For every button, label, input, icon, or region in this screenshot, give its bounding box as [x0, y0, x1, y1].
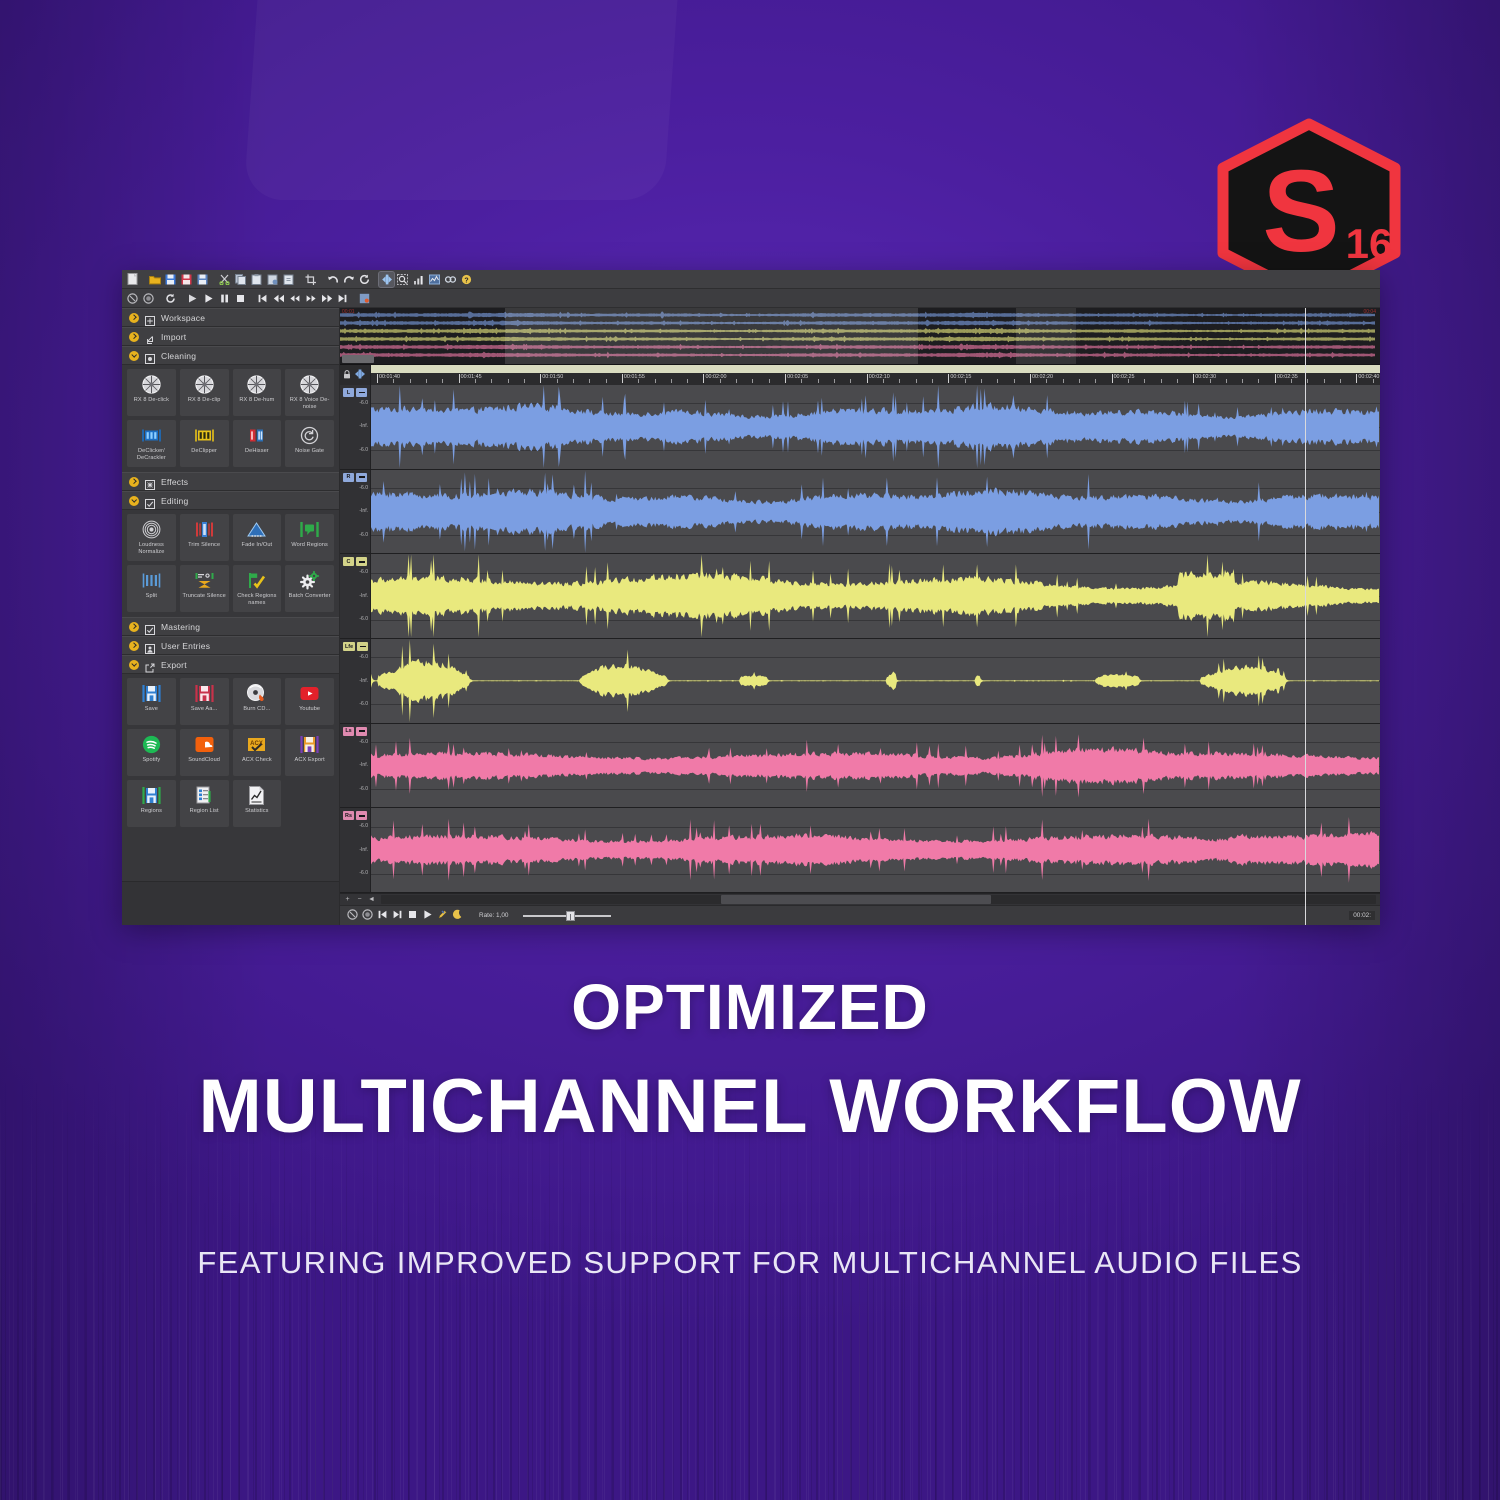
sidebar-section-label: Editing [161, 496, 188, 506]
channel-c[interactable]: C-6.0-Inf.-6.0 [340, 554, 1380, 639]
multichannel-link-icon[interactable] [354, 366, 366, 384]
statistics-doc-icon [246, 785, 267, 806]
ruler-tick-minor [687, 379, 688, 383]
status-time: 00:02: [1349, 911, 1375, 920]
tool-tile-label: Spotify [140, 757, 162, 764]
tool-tile-label: Save Aa... [189, 706, 220, 713]
channel-scale-label: -Inf. [359, 593, 368, 599]
channel-badge[interactable]: R [343, 473, 354, 482]
channel-mute-button[interactable] [356, 727, 367, 736]
rate-label: Rate: 1,00 [479, 912, 509, 919]
sidebar-grid-editing: Loudness NormalizeTrim SilenceFade In/Ou… [122, 510, 339, 617]
tool-tile[interactable]: RX 8 Voice De-noise [285, 369, 334, 416]
tool-tile-label: Youtube [297, 706, 322, 713]
play-all-icon[interactable] [185, 291, 200, 306]
ruler-tick-minor [1291, 379, 1292, 383]
effects-icon [145, 477, 155, 487]
tool-tile-label: DeClicker/ DeCrackler [127, 448, 176, 461]
ruler-tick-minor [916, 379, 917, 383]
zoom-in-icon[interactable]: + [343, 895, 352, 904]
record-icon[interactable] [360, 907, 375, 922]
chevron-right-icon[interactable] [129, 313, 139, 323]
status-bar[interactable]: Rate: 1,00 00:02: [340, 905, 1380, 925]
ruler-tick-minor [801, 379, 802, 383]
ruler-selection-bar[interactable] [371, 365, 1380, 373]
stop-icon[interactable] [405, 907, 420, 922]
overview-minimap[interactable]: 00:01 00:04 [340, 308, 1380, 365]
channel-tag: Lfe [343, 642, 368, 651]
go-to-start-icon[interactable] [255, 291, 270, 306]
save-as-disk-icon [194, 683, 215, 704]
tool-tile[interactable]: RX 8 De-click [127, 369, 176, 416]
tool-tile[interactable]: Save Aa... [180, 678, 229, 725]
ruler-tick-minor [932, 379, 933, 383]
ruler-time-label: 00:01:55 [622, 374, 645, 380]
sidebar-grid-export: SaveSave Aa...Burn CD...YoutubeSpotifySo… [122, 674, 339, 832]
ruler-tick-minor [393, 379, 394, 383]
sidebar-section-label: Workspace [161, 313, 205, 323]
channel-l[interactable]: L-6.0-Inf.-6.0 [340, 385, 1380, 470]
dehisser-icon [246, 425, 267, 446]
ruler-tick-minor [1226, 379, 1227, 383]
channel-gutter: Ls-6.0-Inf.-6.0 [340, 724, 371, 808]
ruler-tick-minor [965, 379, 966, 383]
tool-tile[interactable]: Trim Silence [180, 514, 229, 561]
tool-tile[interactable]: Truncate Silence [180, 565, 229, 612]
toolbar-separator [373, 272, 378, 287]
tool-tile-label: Word Regions [289, 542, 330, 549]
undo-icon[interactable] [325, 272, 340, 287]
main-toolbar[interactable]: ? [122, 270, 1380, 289]
tool-tile[interactable]: Regions [127, 780, 176, 827]
background-shape [243, 0, 686, 200]
tool-tile[interactable]: Noise Gate [285, 420, 334, 467]
tool-tile-label: SoundCloud [186, 757, 222, 764]
tool-tile-label: Fade In/Out [240, 542, 275, 549]
play-icon[interactable] [201, 291, 216, 306]
tool-tile-label: Batch Converter [287, 593, 333, 600]
tool-tile-label: Trim Silence [186, 542, 222, 549]
tool-sidebar[interactable]: WorkspaceImportCleaningRX 8 De-clickRX 8… [122, 308, 340, 925]
sidebar-section-label: Cleaning [161, 351, 196, 361]
moon-icon[interactable] [450, 907, 465, 922]
tool-tile-label: ACX Export [293, 757, 327, 764]
ruler-tick-minor [1063, 379, 1064, 383]
ruler-time-label: 00:01:50 [540, 374, 563, 380]
svg-text:?: ? [464, 277, 468, 284]
tool-tile[interactable]: DeHisser [233, 420, 282, 467]
ruler-tick-minor [1324, 379, 1325, 383]
sidebar-grid-cleaning: RX 8 De-clickRX 8 De-clipRX 8 De-humRX 8… [122, 365, 339, 472]
ruler-tick-minor [655, 379, 656, 383]
ruler-time-label: 00:01:45 [459, 374, 482, 380]
declipper-icon [194, 425, 215, 446]
tool-tile-label: DeClipper [189, 448, 219, 455]
tool-tile[interactable]: Region List [180, 780, 229, 827]
status-transport-buttons[interactable] [345, 907, 465, 925]
channel-ls[interactable]: Ls-6.0-Inf.-6.0 [340, 724, 1380, 809]
channel-tag: R [343, 473, 367, 482]
rewind-icon[interactable] [287, 291, 302, 306]
multichannel-icon[interactable] [379, 272, 394, 287]
ruler-tick-minor [1340, 379, 1341, 383]
trim-silence-icon [194, 519, 215, 540]
channel-scale-label: -6.0 [359, 400, 368, 406]
loop-icon[interactable] [163, 291, 178, 306]
refresh-icon[interactable] [357, 272, 372, 287]
sidebar-section-label: Mastering [161, 622, 200, 632]
tool-tile[interactable]: ACX Export [285, 729, 334, 776]
ruler-time-label: 00:02:00 [703, 374, 726, 380]
channel-scale-label: -6.0 [359, 870, 368, 876]
fade-in-out-icon [246, 519, 267, 540]
sidebar-section-mastering[interactable]: Mastering [122, 617, 339, 636]
waveform-path [371, 470, 1380, 554]
tool-tile[interactable]: Check Regions names [233, 565, 282, 612]
channel-gutter: C-6.0-Inf.-6.0 [340, 554, 371, 638]
sidebar-section-workspace[interactable]: Workspace [122, 308, 339, 327]
ruler-tick-minor [1046, 379, 1047, 383]
ruler-tick-minor [899, 379, 900, 383]
channel-rs[interactable]: Rs-6.0-Inf.-6.0 [340, 808, 1380, 893]
playhead-cursor[interactable] [1305, 308, 1306, 925]
ruler-tick-minor [475, 379, 476, 383]
ruler-tick-minor [426, 379, 427, 383]
ruler-tick-minor [589, 379, 590, 383]
toolbar-separator [319, 272, 324, 287]
pause-icon[interactable] [217, 291, 232, 306]
horizontal-scrollbar[interactable]: + − ◄ [340, 893, 1380, 905]
rx-dial-icon [299, 374, 320, 395]
tool-tile[interactable]: Split [127, 565, 176, 612]
channel-mute-button[interactable] [356, 557, 367, 566]
record-icon[interactable] [141, 291, 156, 306]
sidebar-section-import[interactable]: Import [122, 327, 339, 346]
ruler-time-label: 00:02:40 [1356, 374, 1379, 380]
channel-waveform[interactable] [371, 724, 1380, 808]
import-icon [145, 332, 155, 342]
lock-icon[interactable] [343, 366, 351, 384]
tool-tile-label: Split [144, 593, 159, 600]
headline-line-1: OPTIMIZED [0, 975, 1500, 1039]
ruler-tick-minor [491, 379, 492, 383]
channel-scale-label: -6.0 [359, 823, 368, 829]
minimap-selection-secondary[interactable] [1016, 308, 1076, 364]
ruler-tick-minor [442, 379, 443, 383]
time-ruler[interactable]: 00:01:4000:01:4500:01:5000:01:5500:02:00… [340, 365, 1380, 385]
waveform-path [371, 554, 1380, 638]
tool-tile-label: Regions [139, 808, 164, 815]
channel-gutter: Rs-6.0-Inf.-6.0 [340, 808, 371, 892]
sidebar-sections[interactable]: WorkspaceImportCleaningRX 8 De-clickRX 8… [122, 308, 339, 881]
zoom-selection-icon[interactable] [395, 272, 410, 287]
tool-tile[interactable]: SoundCloud [180, 729, 229, 776]
paste-special-icon[interactable] [265, 272, 280, 287]
channel-tag: Ls [343, 727, 367, 736]
noise-gate-icon [299, 425, 320, 446]
tool-tile[interactable]: ACXACX Check [233, 729, 282, 776]
channel-scale-label: -6.0 [359, 616, 368, 622]
channel-mute-button[interactable] [356, 388, 367, 397]
waveform-path [371, 724, 1380, 808]
zoom-out-icon[interactable]: − [355, 895, 364, 904]
ruler-time-label: 00:02:05 [785, 374, 808, 380]
tool-tile-label: ACX Check [240, 757, 274, 764]
scroll-left-icon[interactable]: ◄ [367, 895, 376, 904]
ruler-tick-minor [638, 379, 639, 383]
go-to-end-icon[interactable] [335, 291, 350, 306]
ruler-tick-minor [1128, 379, 1129, 383]
toolbar-separator [297, 272, 302, 287]
ruler-time-label: 00:02:15 [948, 374, 971, 380]
transport-toolbar[interactable] [122, 289, 1380, 308]
tool-tile-label: Noise Gate [293, 448, 326, 455]
chevron-right-icon[interactable] [129, 477, 139, 487]
chevron-down-icon[interactable] [129, 496, 139, 506]
ruler-tick-minor [1161, 379, 1162, 383]
rx-dial-icon [194, 374, 215, 395]
ruler-tick-minor [1014, 379, 1015, 383]
channel-badge[interactable]: Rs [343, 811, 354, 820]
soundcloud-icon [194, 734, 215, 755]
pencil-edit-icon[interactable] [435, 907, 450, 922]
channel-r[interactable]: R-6.0-Inf.-6.0 [340, 470, 1380, 555]
channel-mute-button[interactable] [357, 642, 368, 651]
channel-scale-label: -6.0 [359, 532, 368, 538]
redo-icon[interactable] [341, 272, 356, 287]
channel-badge[interactable]: L [343, 388, 354, 397]
channel-scale-label: -Inf. [359, 508, 368, 514]
channel-waveform[interactable] [371, 808, 1380, 892]
tool-tile-label: Loudness Normalize [127, 542, 176, 555]
tool-tile-label: Check Regions names [233, 593, 282, 606]
tool-tile-label: Statistics [243, 808, 270, 815]
ruler-tick-minor [1210, 379, 1211, 383]
sidebar-section-label: User Entries [161, 641, 210, 651]
cut-icon[interactable] [217, 272, 232, 287]
tool-tile-label: Save [143, 706, 160, 713]
tool-tile[interactable]: Youtube [285, 678, 334, 725]
ruler-time-label: 00:01:40 [377, 374, 400, 380]
ruler-tick-minor [410, 379, 411, 383]
word-regions-icon [299, 519, 320, 540]
sound-forge-window[interactable]: ? WorkspaceImportCleaningRX 8 De-clickRX… [122, 270, 1380, 925]
minimap-scroll-handle[interactable] [342, 355, 374, 363]
channel-badge[interactable]: Lfe [343, 642, 355, 651]
tool-tile[interactable]: RX 8 De-hum [233, 369, 282, 416]
record-arm-icon[interactable] [125, 291, 140, 306]
copy-icon[interactable] [233, 272, 248, 287]
tool-tile-label: Burn CD... [241, 706, 272, 713]
channel-waveform[interactable] [371, 639, 1380, 723]
export-icon [145, 660, 155, 670]
tool-tile-label: RX 8 Voice De-noise [285, 397, 334, 410]
declicker-icon [141, 425, 162, 446]
tool-tile[interactable]: Save [127, 678, 176, 725]
minimap-selection[interactable] [505, 308, 918, 364]
chevron-down-icon[interactable] [129, 660, 139, 670]
acx-export-icon [299, 734, 320, 755]
ruler-tick-minor [1258, 379, 1259, 383]
play-icon[interactable] [420, 907, 435, 922]
duplicate-icon[interactable] [281, 272, 296, 287]
toolbar-separator [141, 272, 146, 287]
headline-line-2: MULTICHANNEL WORKFLOW [0, 1069, 1500, 1145]
sidebar-section-export[interactable]: Export [122, 655, 339, 674]
spotify-icon [141, 734, 162, 755]
tool-tile[interactable]: DeClipper [180, 420, 229, 467]
channel-tag: C [343, 557, 367, 566]
sidebar-section-label: Effects [161, 477, 188, 487]
channel-scale-label: -Inf. [359, 762, 368, 768]
ruler-tick-minor [1373, 379, 1374, 383]
tool-tile[interactable]: Batch Converter [285, 565, 334, 612]
sidebar-section-effects[interactable]: Effects [122, 472, 339, 491]
record-arm-icon[interactable] [345, 907, 360, 922]
sidebar-section-user-entries[interactable]: User Entries [122, 636, 339, 655]
tool-tile-label: Region List [188, 808, 221, 815]
minimap-left-marker: 00:01 [342, 309, 355, 315]
truncate-silence-icon [194, 570, 215, 591]
channel-scale-label: -Inf. [359, 847, 368, 853]
scrollbar-thumb[interactable] [721, 895, 991, 904]
stop-icon[interactable] [233, 291, 248, 306]
channel-waveform[interactable] [371, 385, 1380, 469]
mastering-icon [145, 622, 155, 632]
channel-waveform[interactable] [371, 470, 1380, 554]
subtitle: FEATURING IMPROVED SUPPORT FOR MULTICHAN… [0, 1245, 1500, 1281]
channel-badge[interactable]: C [343, 557, 354, 566]
save-disk-icon [141, 683, 162, 704]
minimap-right-marker: 00:04 [1363, 309, 1376, 315]
window-body: WorkspaceImportCleaningRX 8 De-clickRX 8… [122, 308, 1380, 925]
batch-converter-icon [299, 570, 320, 591]
sidebar-section-label: Export [161, 660, 187, 670]
tool-tile[interactable]: Fade In/Out [233, 514, 282, 561]
channel-badge[interactable]: Ls [343, 727, 354, 736]
ruler-time-label: 00:02:20 [1030, 374, 1053, 380]
chevron-down-icon[interactable] [129, 351, 139, 361]
waveform-path [371, 808, 1380, 892]
tool-tile[interactable]: Word Regions [285, 514, 334, 561]
crop-icon[interactable] [303, 272, 318, 287]
ruler-tick-minor [1177, 379, 1178, 383]
waveform-path [371, 639, 1380, 723]
channel-scale-label: -6.0 [359, 569, 368, 575]
new-file-icon[interactable] [125, 272, 140, 287]
tool-tile[interactable]: RX 8 De-clip [180, 369, 229, 416]
ruler-tick-minor [736, 379, 737, 383]
waveform-editor[interactable]: 00:01 00:04 00:01:4000:01:4500:01: [340, 308, 1380, 925]
ruler-tick-minor [850, 379, 851, 383]
ruler-time-label: 00:02:10 [867, 374, 890, 380]
spectrum-icon[interactable] [427, 272, 442, 287]
go-to-end-icon[interactable] [390, 907, 405, 922]
ruler-gutter [340, 365, 371, 385]
channel-lfe[interactable]: Lfe-6.0-Inf.-6.0 [340, 639, 1380, 724]
youtube-icon [299, 683, 320, 704]
save-as-icon[interactable] [179, 272, 194, 287]
tool-tile[interactable]: Statistics [233, 780, 282, 827]
acx-check-icon: ACX [246, 734, 267, 755]
ruler-tick-minor [1307, 379, 1308, 383]
previous-marker-icon[interactable] [271, 291, 286, 306]
region-list-icon [194, 785, 215, 806]
channel-gutter: Lfe-6.0-Inf.-6.0 [340, 639, 371, 723]
sidebar-section-cleaning[interactable]: Cleaning [122, 346, 339, 365]
rate-slider[interactable] [523, 911, 611, 921]
channel-gutter: R-6.0-Inf.-6.0 [340, 470, 371, 554]
tool-tile-label: RX 8 De-click [132, 397, 171, 404]
ruler-tick-minor [769, 379, 770, 383]
channel-scale-label: -6.0 [359, 485, 368, 491]
ruler-tick-minor [671, 379, 672, 383]
open-folder-icon[interactable] [147, 272, 162, 287]
statistics-icon[interactable] [411, 272, 426, 287]
tool-tile-label: RX 8 De-hum [237, 397, 276, 404]
ruler-tick-minor [573, 379, 574, 383]
channel-mute-button[interactable] [356, 473, 367, 482]
ruler-tick-minor [818, 379, 819, 383]
help-icon[interactable]: ? [459, 272, 474, 287]
rx-dial-icon [246, 374, 267, 395]
chevron-right-icon[interactable] [129, 622, 139, 632]
toolbar-separator [249, 291, 254, 306]
ruler-time-label: 00:02:25 [1112, 374, 1135, 380]
cleaning-icon [145, 351, 155, 361]
workspace-icon [145, 313, 155, 323]
channel-mute-button[interactable] [356, 811, 367, 820]
save-all-icon[interactable] [195, 272, 210, 287]
ruler-track[interactable]: 00:01:4000:01:4500:01:5000:01:5500:02:00… [371, 365, 1380, 385]
paste-icon[interactable] [249, 272, 264, 287]
channel-scale-label: -Inf. [359, 423, 368, 429]
ruler-tick-minor [981, 379, 982, 383]
loudness-normalize-icon [141, 519, 162, 540]
ruler-tick-minor [1144, 379, 1145, 383]
save-icon[interactable] [163, 272, 178, 287]
channel-waveform[interactable] [371, 554, 1380, 638]
next-marker-icon[interactable] [319, 291, 334, 306]
ruler-tick-minor [606, 379, 607, 383]
plugin-chain-icon[interactable] [443, 272, 458, 287]
tool-tile[interactable]: Spotify [127, 729, 176, 776]
logo-letter-s: S [1262, 146, 1339, 276]
channel-scale-label: -6.0 [359, 654, 368, 660]
tool-tile-label: DeHisser [243, 448, 271, 455]
tool-tile-label: RX 8 De-clip [186, 397, 223, 404]
tool-tile[interactable]: Burn CD... [233, 678, 282, 725]
rate-slider-knob[interactable] [566, 911, 575, 921]
channel-stack[interactable]: L-6.0-Inf.-6.0R-6.0-Inf.-6.0C-6.0-Inf.-6… [340, 385, 1380, 893]
channel-scale-label: -6.0 [359, 701, 368, 707]
go-to-start-icon[interactable] [375, 907, 390, 922]
chevron-right-icon[interactable] [129, 332, 139, 342]
fast-forward-icon[interactable] [303, 291, 318, 306]
tool-tile[interactable]: DeClicker/ DeCrackler [127, 420, 176, 467]
record-settings-icon[interactable] [357, 291, 372, 306]
sidebar-section-editing[interactable]: Editing [122, 491, 339, 510]
burn-cd-icon [246, 683, 267, 704]
ruler-tick-minor [1242, 379, 1243, 383]
channel-tag: Rs [343, 811, 367, 820]
scrollbar-track[interactable] [381, 895, 1376, 904]
ruler-tick-minor [557, 379, 558, 383]
chevron-right-icon[interactable] [129, 641, 139, 651]
ruler-tick-minor [752, 379, 753, 383]
split-icon [141, 570, 162, 591]
tool-tile[interactable]: Loudness Normalize [127, 514, 176, 561]
